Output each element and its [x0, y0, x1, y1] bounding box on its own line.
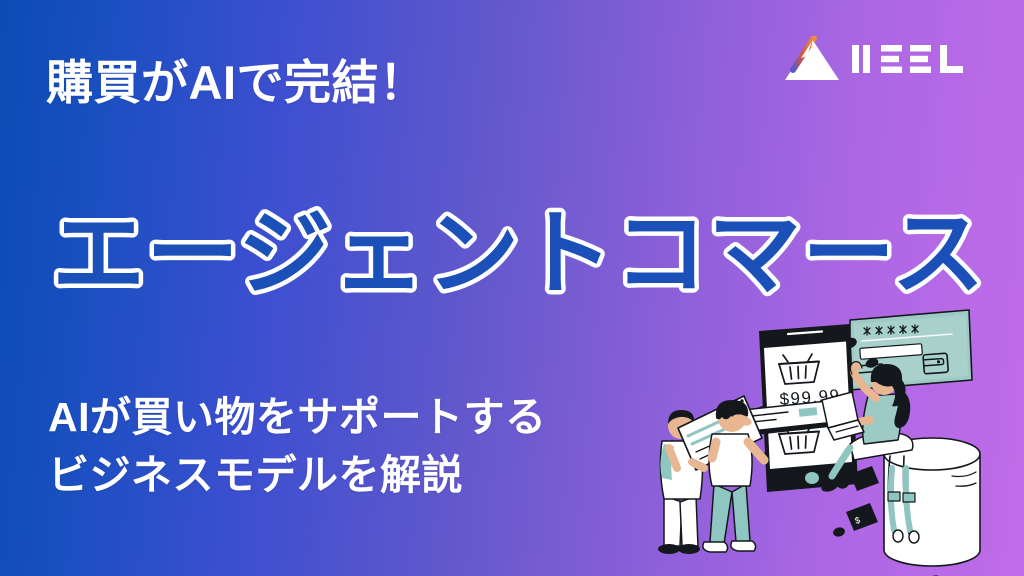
teal-payment-screen — [850, 310, 972, 390]
illustration-svg: $ — [636, 296, 1024, 576]
slide-canvas: 購買がAIで完結！ エージェントコマース エージェントコマース AIが買い物をサ… — [0, 0, 1024, 576]
agent-commerce-illustration: $ — [636, 296, 1024, 576]
money-icon-lower: $ — [846, 503, 878, 531]
brand-logo — [783, 34, 972, 84]
mountain-triangle-mark-icon — [783, 36, 841, 82]
subtitle-line-1: AIが買い物をサポートする — [48, 388, 547, 446]
logo-wordmark — [850, 39, 972, 79]
cylinder-platform — [884, 438, 980, 566]
subtitle-line-2: ビジネスモデルを解説 — [48, 446, 547, 504]
headline-text: 購買がAIで完結！ — [46, 54, 427, 111]
subtitle-block: AIが買い物をサポートする ビジネスモデルを解説 — [48, 388, 547, 504]
main-title-fill: エージェントコマース — [52, 202, 986, 306]
